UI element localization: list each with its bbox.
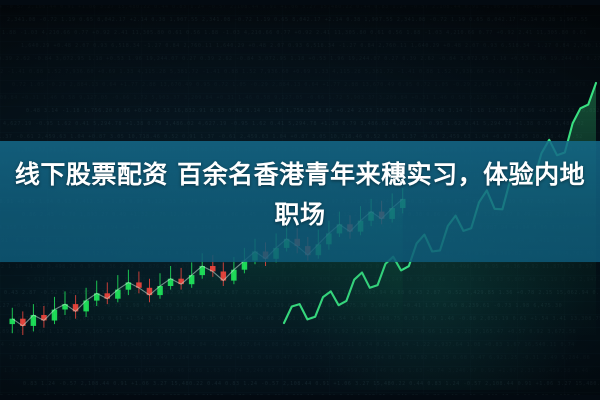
news-thumbnail-image: 0.83 1.24 -0.57 2,108.44 0.91 +1.06 3.27…: [0, 0, 600, 400]
top-edge-strip: [0, 0, 600, 5]
headline-text: 线下股票配资 百余名香港青年来穗实习，体验内地职场: [15, 160, 585, 229]
page-title: 线下股票配资 百余名香港青年来穗实习，体验内地职场: [0, 155, 600, 235]
bottom-edge-strip: [0, 395, 600, 400]
